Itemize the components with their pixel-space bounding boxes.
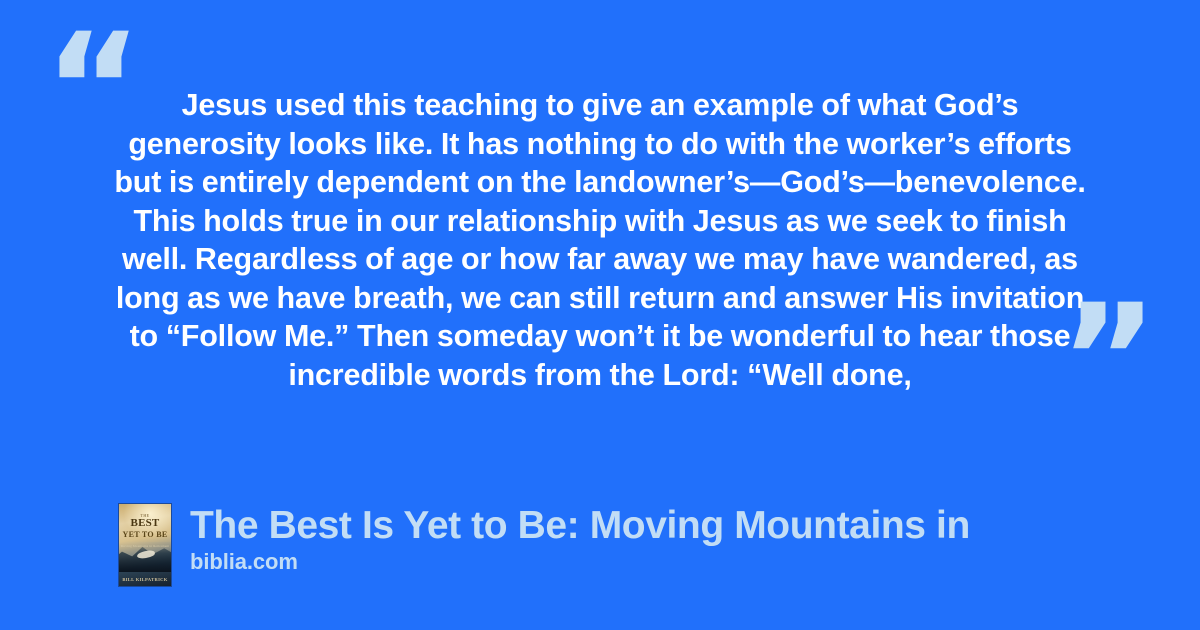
quote-text: Jesus used this teaching to give an exam… <box>110 86 1090 394</box>
close-quote-icon: ” <box>1059 285 1158 435</box>
book-cover-thumbnail: THE BEST YET TO BE Moving Mountains in R… <box>118 503 172 587</box>
book-cover-author: BILL KILPATRICK <box>119 577 171 582</box>
quote-card: “ Jesus used this teaching to give an ex… <box>0 0 1200 630</box>
footer-text-block: The Best Is Yet to Be: Moving Mountains … <box>190 503 1128 575</box>
book-cover-line-2: BEST <box>119 518 171 529</box>
book-cover-subtitle: Moving Mountains in Retirement <box>119 544 171 548</box>
book-cover-line-3: YET TO BE <box>119 530 171 539</box>
source-domain[interactable]: biblia.com <box>190 549 1128 575</box>
footer: THE BEST YET TO BE Moving Mountains in R… <box>118 503 1128 587</box>
book-title[interactable]: The Best Is Yet to Be: Moving Mountains … <box>190 503 1128 548</box>
